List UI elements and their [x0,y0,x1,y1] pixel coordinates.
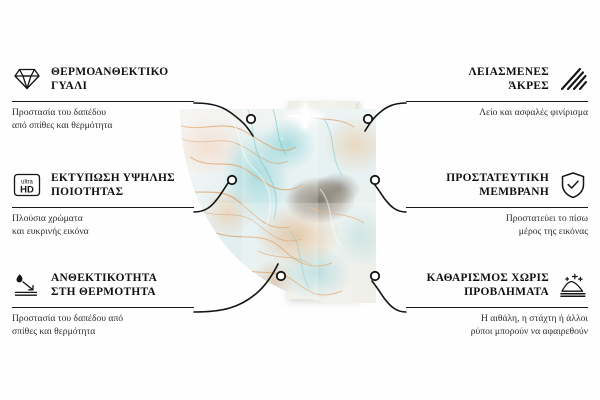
glass-gloss-overlay [180,95,376,305]
feature-title: ΚΑΘΑΡΙΣΜΟΣ ΧΩΡΙΣ ΠΡΟΒΛΗΜΑΤΑ [427,271,549,299]
product-image [180,95,410,310]
feature-header: ΑΝΘΕΚΤΙΚΟΤΗΤΑ ΣΤΗ ΘΕΡΜΟΤΗΤΑ [12,268,194,302]
feature-header: ΠΡΟΣΤΑΤΕΥΤΙΚΗ ΜΕΜΒΡΑΝΗ [406,168,588,202]
feature-title: ΕΚΤΥΠΩΣΗ ΥΨΗΛΗΣ ΠΟΙΟΤΗΤΑΣ [51,171,175,199]
feature-divider [406,207,588,208]
sponge-sparkle-icon [558,270,588,300]
feature-description: Η αιθάλη, η στάχτη ή άλλοι ρύποι μπορούν… [406,313,588,338]
feature-high-quality-print: ultra HD ΕΚΤΥΠΩΣΗ ΥΨΗΛΗΣ ΠΟΙΟΤΗΤΑΣ Πλούσ… [12,168,194,238]
feature-description: Προστασία του δαπέδου από σπίθες και θερ… [12,313,194,338]
feature-header: ΛΕΙΑΣΜΕΝΕΣ ΆΚΡΕΣ [406,62,588,96]
feature-description: Προστασία του δαπέδου από σπίθες και θερ… [12,107,194,132]
feature-header: ΘΕΡΜΟΑΝΘΕΚΤΙΚΟ ΓΥΑΛΙ [12,62,194,96]
diagonal-lines-icon [558,64,588,94]
feature-title: ΑΝΘΕΚΤΙΚΟΤΗΤΑ ΣΤΗ ΘΕΡΜΟΤΗΤΑ [51,271,157,299]
feature-protective-membrane: ΠΡΟΣΤΑΤΕΥΤΙΚΗ ΜΕΜΒΡΑΝΗ Προστατεύει το πί… [406,168,588,238]
feature-title: ΛΕΙΑΣΜΕΝΕΣ ΆΚΡΕΣ [469,65,550,93]
shield-check-icon [558,170,588,200]
feature-divider [12,207,194,208]
svg-text:HD: HD [20,184,34,195]
feature-trouble-free-cleaning: ΚΑΘΑΡΙΣΜΟΣ ΧΩΡΙΣ ΠΡΟΒΛΗΜΑΤΑ Η αιθάλη, η … [406,268,588,338]
feature-description: Προστατεύει το πίσω μέρος της εικόνας [406,213,588,238]
feature-divider [406,101,588,102]
glass-panel-artwork [180,95,376,305]
feature-divider [406,307,588,308]
infographic-canvas: ΘΕΡΜΟΑΝΘΕΚΤΙΚΟ ΓΥΑΛΙ Προστασία του δαπέδ… [0,0,600,400]
feature-title: ΘΕΡΜΟΑΝΘΕΚΤΙΚΟ ΓΥΑΛΙ [51,65,168,93]
feature-heat-resistant-glass: ΘΕΡΜΟΑΝΘΕΚΤΙΚΟ ΓΥΑΛΙ Προστασία του δαπέδ… [12,62,194,132]
flame-deflect-icon [12,270,42,300]
feature-title: ΠΡΟΣΤΑΤΕΥΤΙΚΗ ΜΕΜΒΡΑΝΗ [446,171,549,199]
feature-description: Πλούσια χρώματα και ευκρινής εικόνα [12,213,194,238]
feature-header: ΚΑΘΑΡΙΣΜΟΣ ΧΩΡΙΣ ΠΡΟΒΛΗΜΑΤΑ [406,268,588,302]
feature-divider [12,101,194,102]
feature-header: ultra HD ΕΚΤΥΠΩΣΗ ΥΨΗΛΗΣ ΠΟΙΟΤΗΤΑΣ [12,168,194,202]
ultra-hd-icon: ultra HD [12,170,42,200]
feature-description: Λείο και ασφαλές φινίρισμα [406,107,588,120]
feature-heat-durability: ΑΝΘΕΚΤΙΚΟΤΗΤΑ ΣΤΗ ΘΕΡΜΟΤΗΤΑ Προστασία το… [12,268,194,338]
feature-polished-edges: ΛΕΙΑΣΜΕΝΕΣ ΆΚΡΕΣ Λείο και ασφαλές φινίρι… [406,62,588,120]
diamond-icon [12,64,42,94]
feature-divider [12,307,194,308]
